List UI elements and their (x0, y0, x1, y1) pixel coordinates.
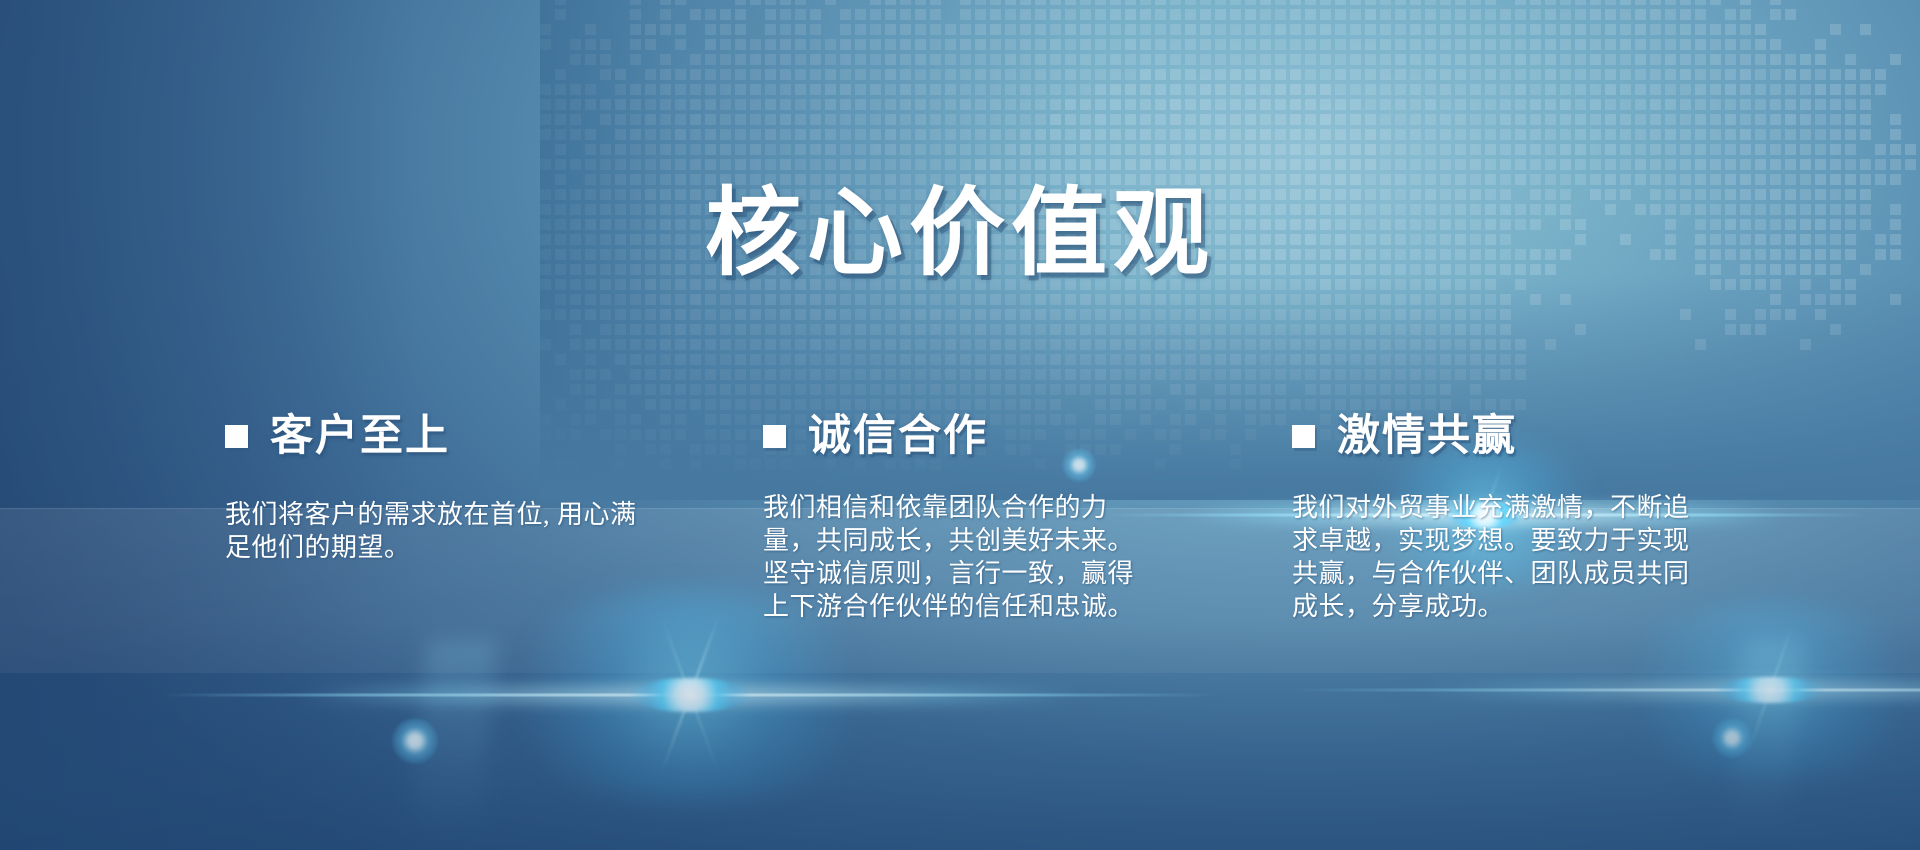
square-bullet-icon (225, 425, 248, 448)
value-body-text: 我们将客户的需求放在首位, 用心满足他们的期望。 (225, 498, 637, 564)
value-heading-label: 激情共赢 (1337, 415, 1517, 458)
value-heading-label: 诚信合作 (808, 415, 988, 458)
value-heading-label: 客户至上 (270, 415, 450, 458)
page-title: 核心价值观 (0, 186, 1920, 282)
value-column-customer-first: 客户至上 我们将客户的需求放在首位, 用心满足他们的期望。 (225, 415, 655, 564)
value-heading-row: 激情共赢 (1292, 415, 1722, 458)
value-body-text: 我们对外贸事业充满激情，不断追求卓越，实现梦想。要致力于实现共赢，与合作伙伴、团… (1292, 491, 1694, 623)
value-column-integrity-cooperation: 诚信合作 我们相信和依靠团队合作的力量，共同成长，共创美好未来。坚守诚信原则，言… (763, 415, 1183, 623)
value-heading-row: 客户至上 (225, 415, 655, 458)
square-bullet-icon (763, 425, 786, 448)
core-values-banner: 核心价值观 客户至上 我们将客户的需求放在首位, 用心满足他们的期望。 诚信合作… (0, 0, 1920, 850)
value-column-passion-winwin: 激情共赢 我们对外贸事业充满激情，不断追求卓越，实现梦想。要致力于实现共赢，与合… (1292, 415, 1722, 623)
value-heading-row: 诚信合作 (763, 415, 1183, 458)
square-bullet-icon (1292, 425, 1315, 448)
value-body-text: 我们相信和依靠团队合作的力量，共同成长，共创美好未来。坚守诚信原则，言行一致，赢… (763, 491, 1159, 623)
